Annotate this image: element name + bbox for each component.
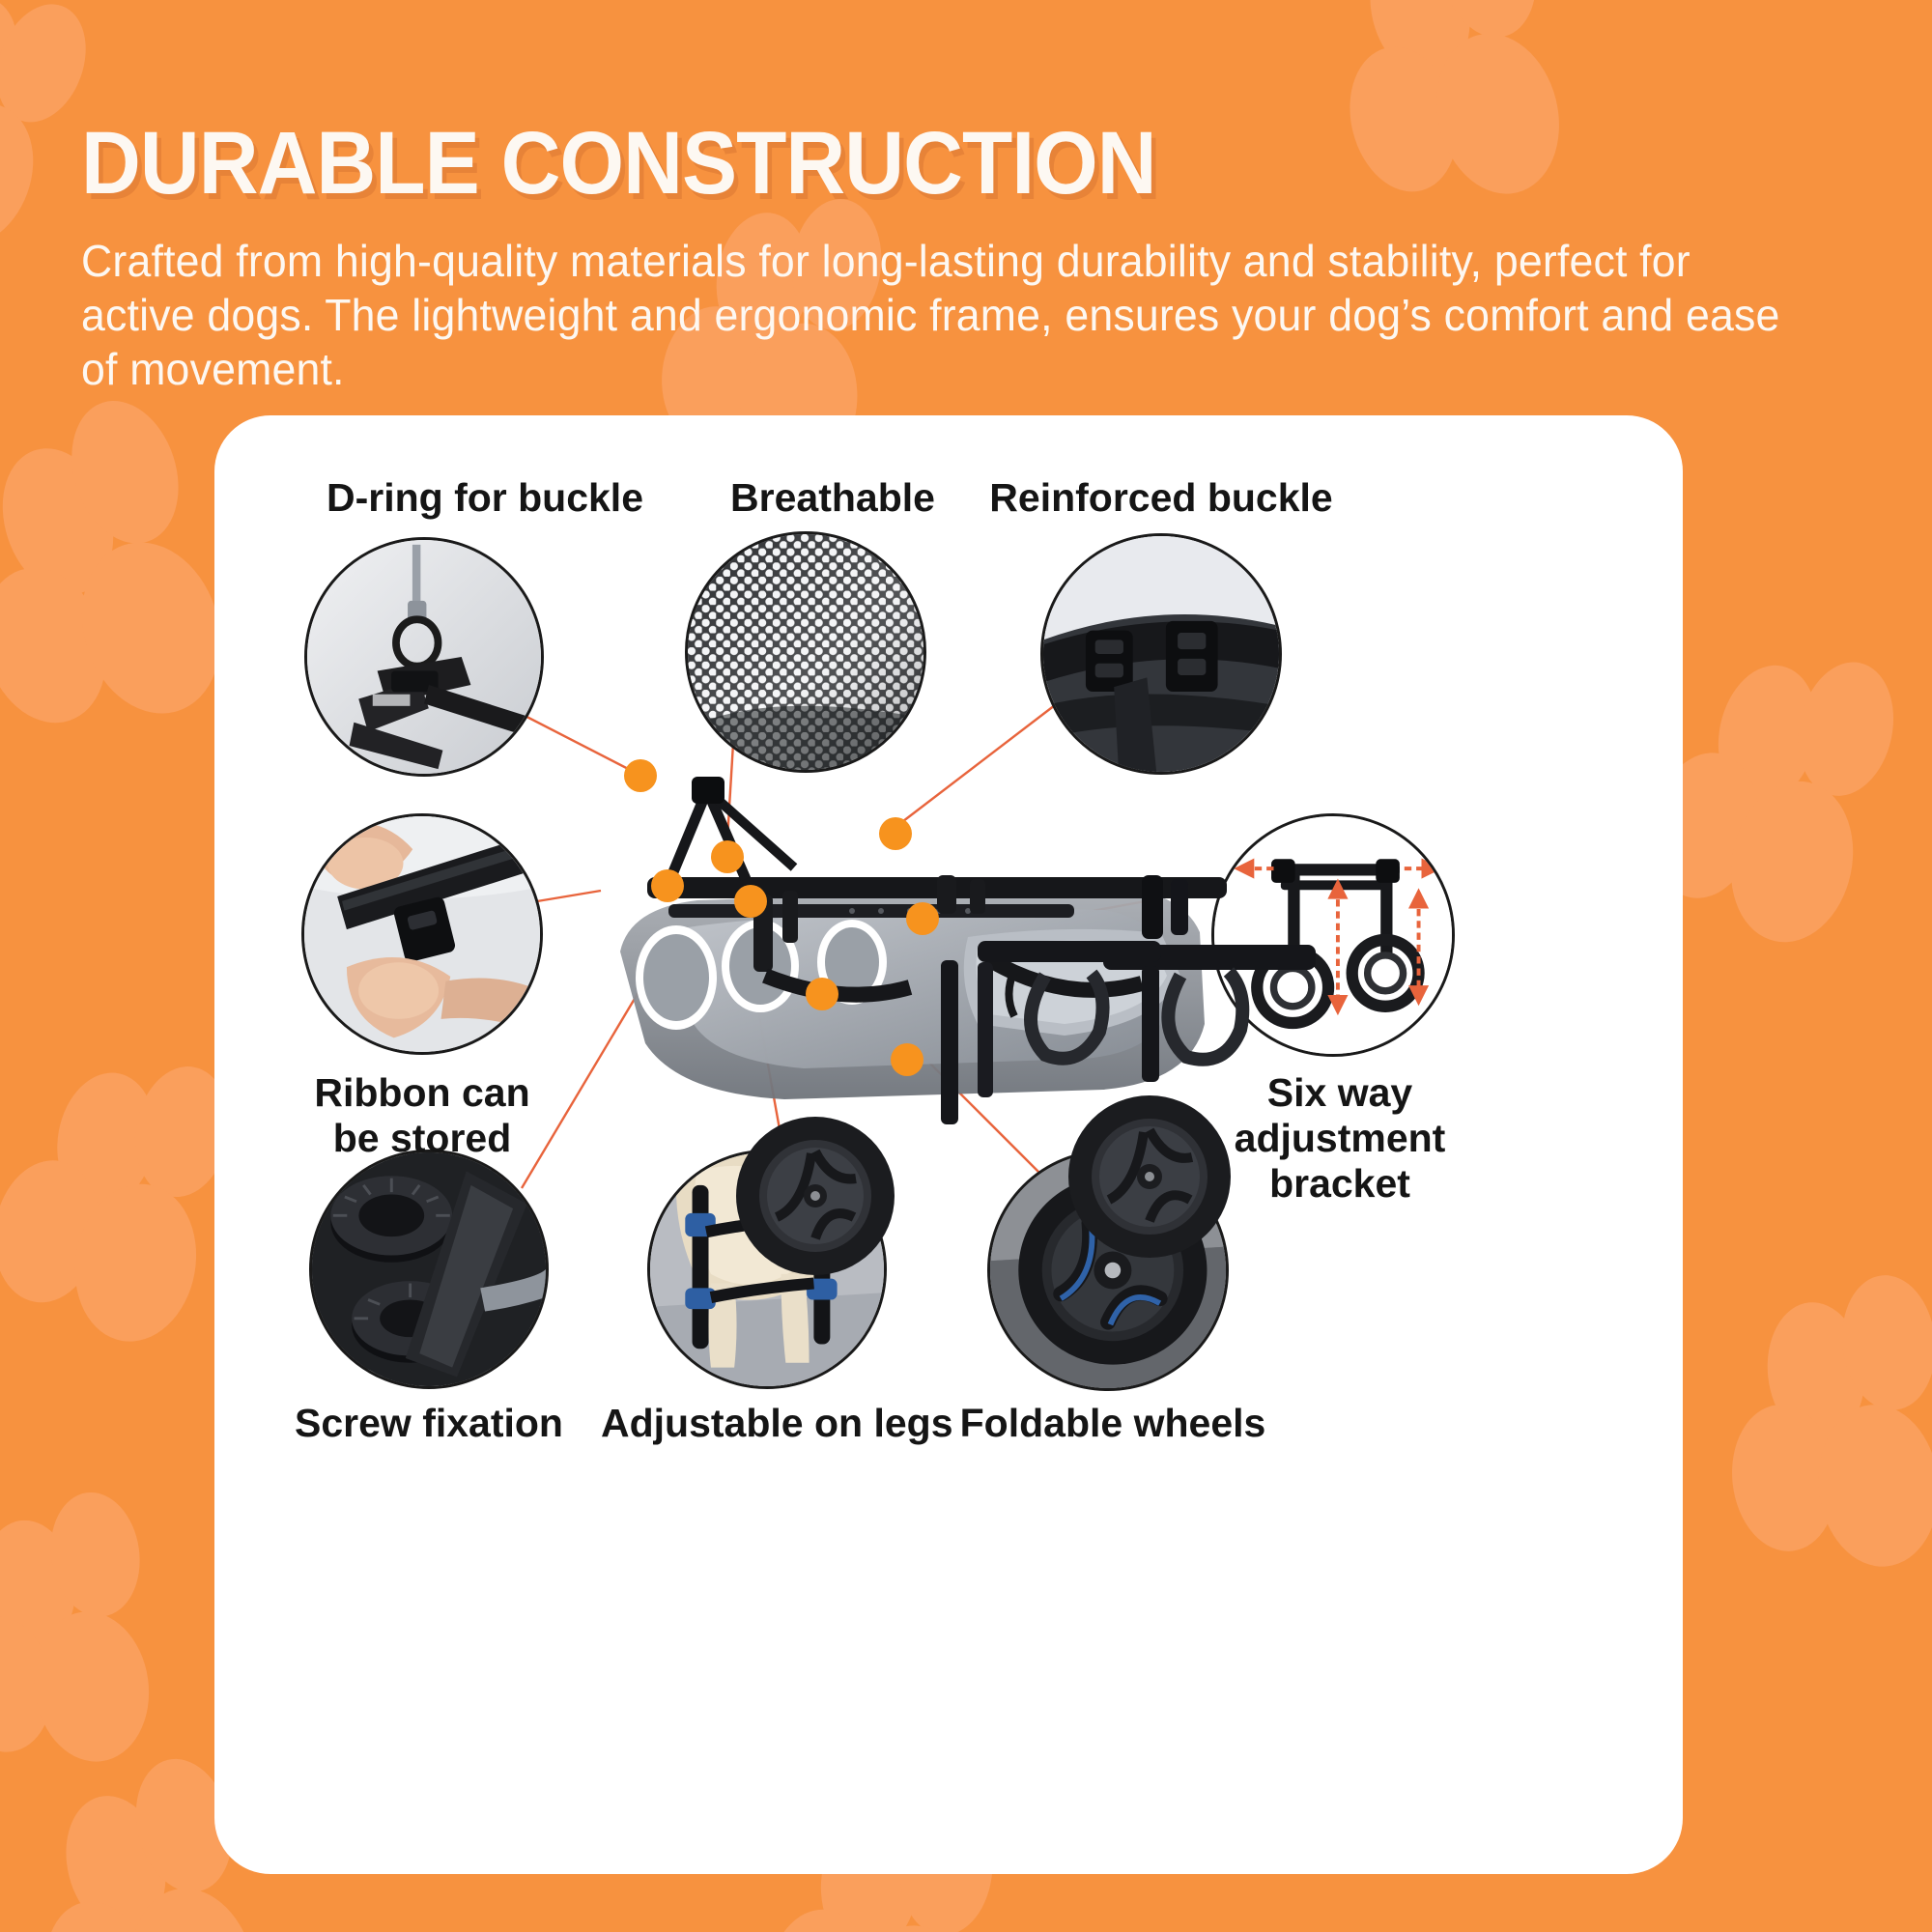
feature-label-screw-fixation: Screw fixation bbox=[265, 1401, 593, 1446]
hotspot-dot-wheel[interactable] bbox=[891, 1043, 923, 1076]
hotspot-dot-right-buckle[interactable] bbox=[879, 817, 912, 850]
hotspot-dot-mesh[interactable] bbox=[711, 840, 744, 873]
hotspot-dot-leg-strap[interactable] bbox=[806, 978, 838, 1010]
feature-label-ribbon-can-be-stored: Ribbon can be stored bbox=[292, 1070, 553, 1161]
hotspot-dot-center-strap[interactable] bbox=[734, 885, 767, 918]
feature-card: D-ring for buckle bbox=[214, 415, 1683, 1874]
d-ring-photo bbox=[307, 540, 541, 774]
hand-strap-photo bbox=[304, 816, 540, 1052]
feature-label-foldable-wheels: Foldable wheels bbox=[949, 1401, 1277, 1446]
hotspot-dot-right-bracket[interactable] bbox=[906, 902, 939, 935]
feature-image-screw-fixation bbox=[309, 1150, 549, 1389]
feature-label-line: Six way bbox=[1180, 1070, 1499, 1116]
feature-label-line: adjustment bracket bbox=[1180, 1116, 1499, 1207]
product-image-dog-wheelchair bbox=[562, 734, 1364, 1372]
feature-image-d-ring-for-buckle bbox=[304, 537, 544, 777]
feature-label-line: be stored bbox=[292, 1116, 553, 1161]
feature-label-adjustable-on-legs: Adjustable on legs bbox=[601, 1401, 939, 1446]
page-header: DURABLE CONSTRUCTION Crafted from high-q… bbox=[81, 118, 1878, 396]
page-subtitle: Crafted from high-quality materials for … bbox=[81, 234, 1796, 396]
page-title: DURABLE CONSTRUCTION bbox=[81, 118, 1752, 209]
feature-label-reinforced-buckle: Reinforced buckle bbox=[891, 475, 1432, 521]
feature-image-ribbon-can-be-stored bbox=[301, 813, 543, 1055]
hotspot-dot-top-frame[interactable] bbox=[624, 759, 657, 792]
feature-label-six-way-adjustment-bracket: Six way adjustment bracket bbox=[1180, 1070, 1499, 1207]
dog-wheelchair-illustration bbox=[562, 734, 1364, 1372]
hotspot-dot-left-strap[interactable] bbox=[651, 869, 684, 902]
feature-label-line: Ribbon can bbox=[292, 1070, 553, 1116]
screw-photo bbox=[312, 1152, 546, 1386]
